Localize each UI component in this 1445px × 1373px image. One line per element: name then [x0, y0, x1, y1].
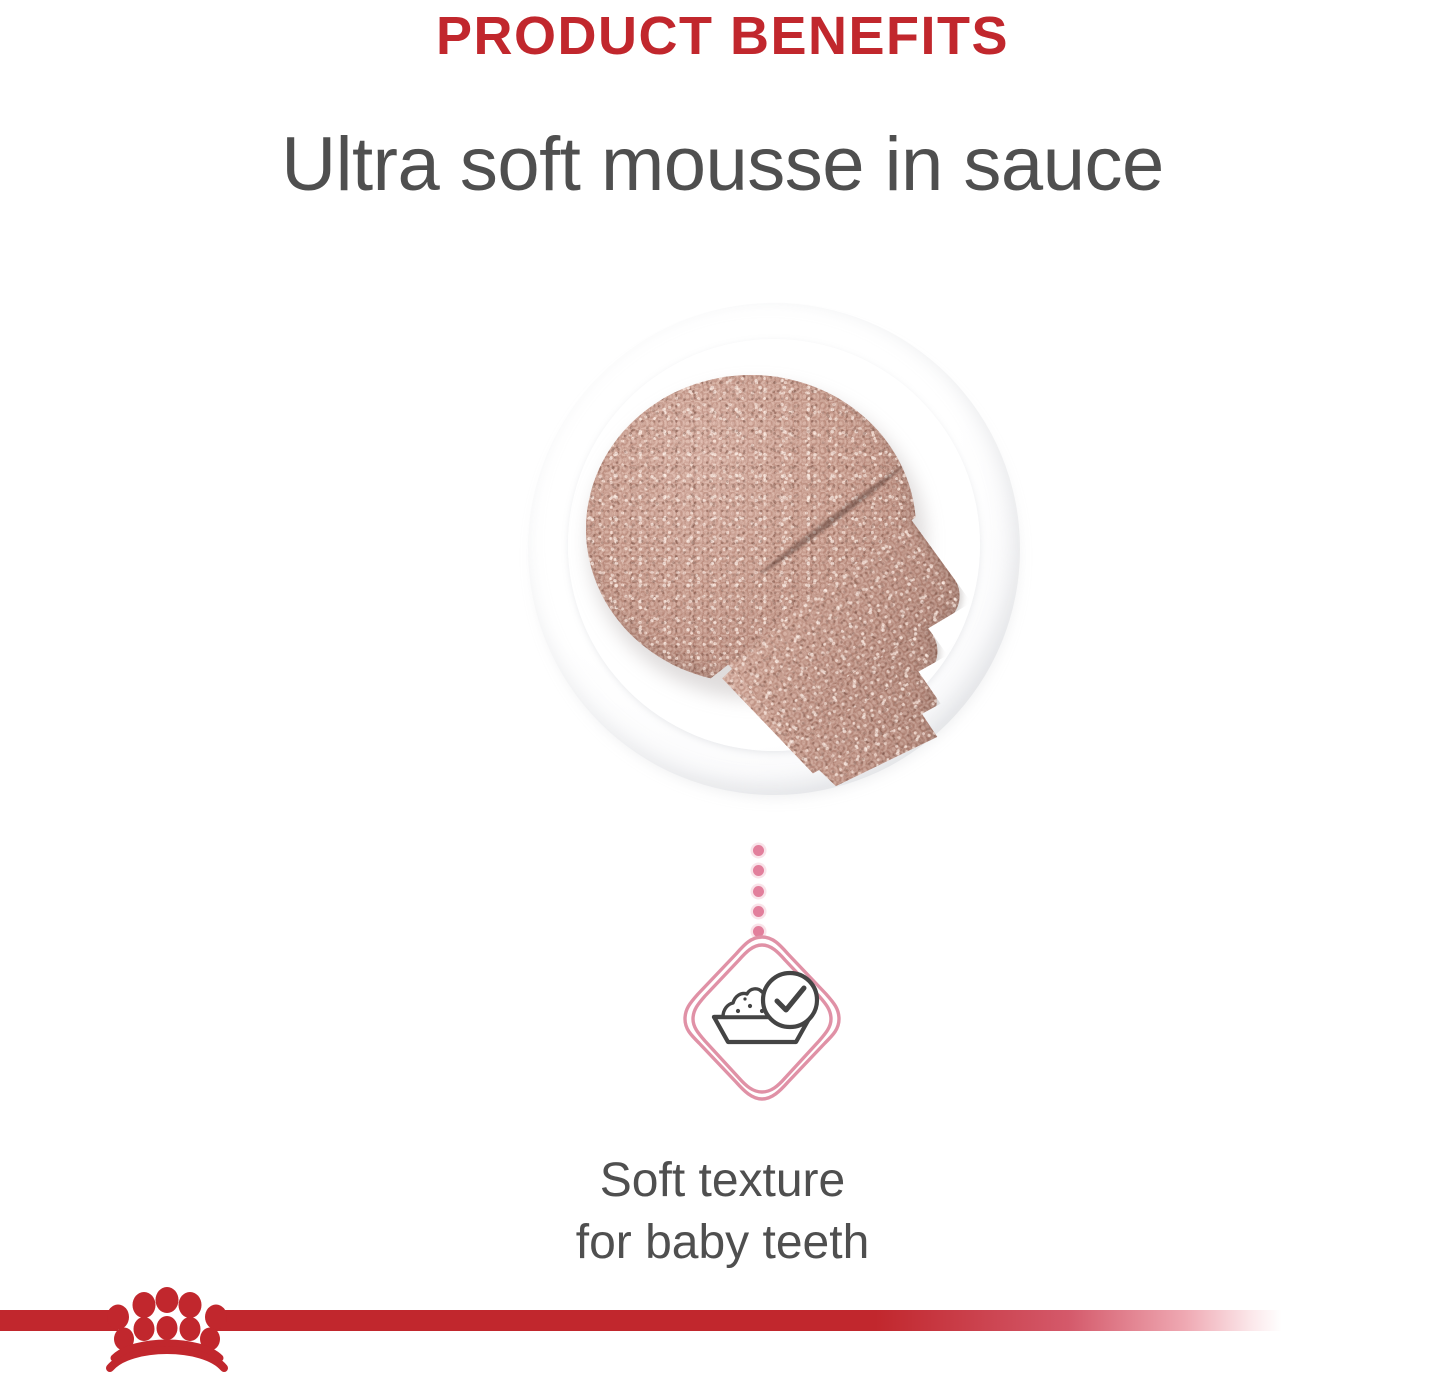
section-eyebrow: PRODUCT BENEFITS [0, 8, 1445, 65]
hero-food-image [528, 303, 1024, 799]
connector-dot [753, 906, 764, 917]
connector-dot [753, 865, 764, 876]
royal-canin-crown-logo [96, 1284, 238, 1373]
connector-dot [753, 845, 764, 856]
product-benefits-panel: PRODUCT BENEFITS Ultra soft mousse in sa… [0, 0, 1445, 1373]
benefit-icon-frame [676, 930, 848, 1106]
page-title: Ultra soft mousse in sauce [0, 124, 1445, 206]
connector-dot [753, 886, 764, 897]
caption-line-1: Soft texture [600, 1154, 845, 1207]
footer-bar-right [212, 1310, 1282, 1331]
brand-footer [0, 1278, 1445, 1373]
mousse-group [528, 303, 1020, 795]
benefit-caption: Soft texture for baby teeth [0, 1150, 1445, 1275]
caption-line-2: for baby teeth [0, 1212, 1445, 1274]
connector-dots [751, 845, 765, 937]
